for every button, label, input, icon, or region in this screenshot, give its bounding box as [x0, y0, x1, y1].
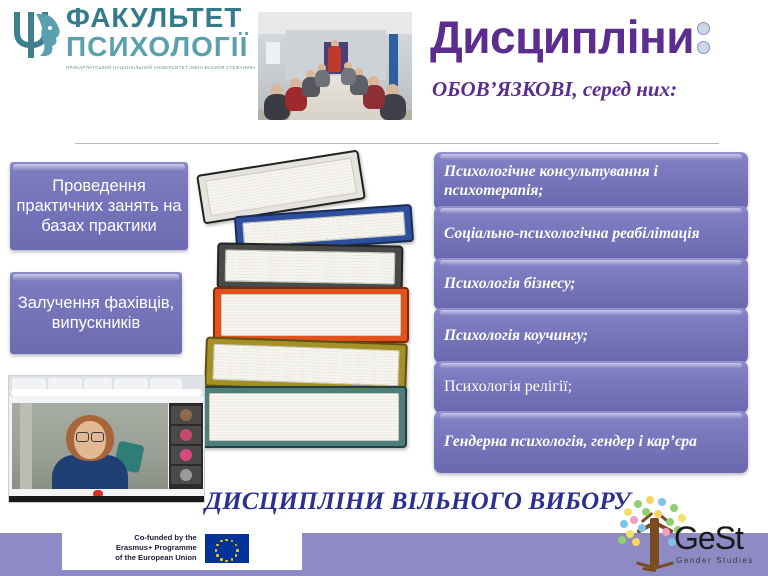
- erasmus-funding-logo: Co-funded by the Erasmus+ Programme of t…: [62, 526, 302, 570]
- stack-of-books-illustration: [195, 160, 435, 490]
- erasmus-line-3: of the European Union: [115, 553, 196, 563]
- gest-logo: GeSt Gender Studies: [612, 492, 762, 576]
- eu-flag-icon: [205, 534, 249, 563]
- header-divider: [75, 143, 719, 144]
- discipline-label: Психологія бізнесу;: [444, 274, 738, 293]
- video-main-tile: [12, 403, 168, 489]
- page-title-text: Дисципліни: [430, 11, 694, 63]
- gest-wordmark: GeSt: [674, 520, 743, 557]
- discipline-box[interactable]: Психологія релігії;: [434, 361, 748, 413]
- discipline-label: Психологічне консультування і психотерап…: [444, 162, 738, 200]
- faculty-logo: ФАКУЛЬТЕТ ПСИХОЛОГІЇ ПРИКАРПАТСЬКИЙ НАЦІ…: [6, 4, 264, 70]
- discipline-box[interactable]: Гендерна психологія, гендер і кар’єра: [434, 411, 748, 473]
- participant-thumbnail-strip: [169, 403, 203, 489]
- logo-line-1: ФАКУЛЬТЕТ: [66, 4, 266, 32]
- discipline-box[interactable]: Соціально-психологічна реабілітація: [434, 206, 748, 261]
- discipline-label: Гендерна психологія, гендер і кар’єра: [444, 432, 738, 451]
- discipline-box[interactable]: Психологія коучингу;: [434, 308, 748, 363]
- discipline-label: Соціально-психологічна реабілітація: [444, 224, 738, 243]
- psi-face-icon: [6, 6, 68, 62]
- page-subtitle: ОБОВ’ЯЗКОВІ, серед них:: [432, 77, 762, 102]
- discipline-label: Психологія релігії;: [444, 377, 738, 397]
- video-conference-screenshot: [8, 375, 205, 503]
- discipline-label: Психологія коучингу;: [444, 326, 738, 345]
- logo-subline: ПРИКАРПАТСЬКИЙ НАЦІОНАЛЬНИЙ УНІВЕРСИТЕТ …: [66, 65, 266, 70]
- logo-wordmark: ФАКУЛЬТЕТ ПСИХОЛОГІЇ ПРИКАРПАТСЬКИЙ НАЦІ…: [66, 4, 266, 70]
- classroom-seminar-photo: [258, 12, 412, 120]
- discipline-box[interactable]: Психологія бізнесу;: [434, 258, 748, 310]
- erasmus-funding-text: Co-funded by the Erasmus+ Programme of t…: [115, 533, 196, 563]
- left-callout-box[interactable]: Проведення практичних занять на базах пр…: [10, 162, 188, 250]
- colon-dots-icon: [697, 22, 710, 60]
- bottom-heading: ДИСЦИПЛІНИ ВІЛЬНОГО ВИБОРУ: [205, 488, 675, 516]
- logo-line-2: ПСИХОЛОГІЇ: [66, 33, 266, 61]
- page-title: Дисципліни: [430, 14, 760, 60]
- browser-chrome: [9, 376, 204, 396]
- left-callout-box[interactable]: Залучення фахівців, випускників: [10, 272, 182, 354]
- discipline-box[interactable]: Психологічне консультування і психотерап…: [434, 152, 748, 210]
- erasmus-line-2: Erasmus+ Programme: [115, 543, 196, 553]
- slide-canvas: ФАКУЛЬТЕТ ПСИХОЛОГІЇ ПРИКАРПАТСЬКИЙ НАЦІ…: [0, 0, 768, 576]
- erasmus-line-1: Co-funded by the: [115, 533, 196, 543]
- taskbar: [9, 496, 204, 502]
- gest-subtitle: Gender Studies: [676, 556, 754, 565]
